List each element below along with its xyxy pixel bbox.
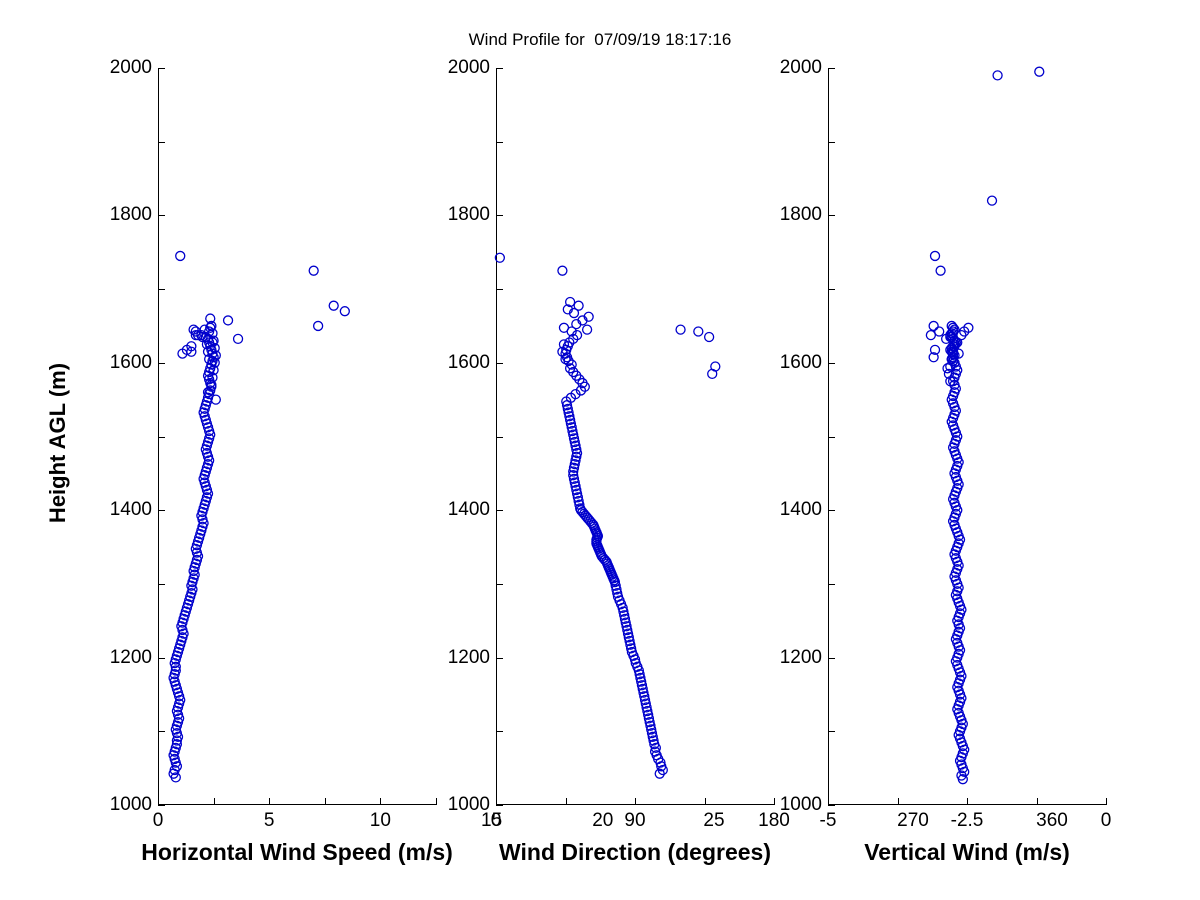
- x-axis-tick-label: -5: [820, 810, 837, 832]
- data-markers-wind-direction: [496, 68, 774, 805]
- x-axis-tick-label: 25: [703, 810, 724, 832]
- x-axis-tick-label: 5: [264, 810, 275, 832]
- data-point: [926, 331, 935, 340]
- subplot-vertical-wind: 0200400600800100012001400160018002000-5-…: [828, 68, 1106, 805]
- data-point: [224, 316, 233, 325]
- y-axis-tick-label: 1800: [780, 204, 822, 226]
- scatter-series: [828, 68, 1106, 805]
- data-point: [705, 333, 714, 342]
- data-point: [558, 266, 567, 275]
- y-axis-tick-label: 1800: [448, 204, 490, 226]
- data-point: [694, 327, 703, 336]
- page-title: Wind Profile for 07/09/19 18:17:16: [0, 30, 1200, 50]
- data-point: [309, 266, 318, 275]
- y-axis-tick-label: 1600: [110, 352, 152, 374]
- y-axis-tick-label: 2000: [448, 57, 490, 79]
- data-markers-horizontal-wind: [158, 68, 436, 805]
- data-point: [574, 301, 583, 310]
- y-axis-tick-label: 1600: [780, 352, 822, 374]
- y-axis-tick-label: 1200: [448, 647, 490, 669]
- x-axis-label: Horizontal Wind Speed (m/s): [141, 839, 453, 866]
- data-point: [495, 253, 504, 262]
- y-axis-tick-label: 1200: [110, 647, 152, 669]
- y-axis-tick-label: 1600: [448, 352, 490, 374]
- y-axis-tick-label: 1000: [448, 794, 490, 816]
- y-axis-tick-label: 1400: [780, 499, 822, 521]
- y-axis-label: Height AGL (m): [45, 283, 71, 603]
- subplot-wind-direction: 0200400600800100012001400160018002000090…: [496, 68, 774, 805]
- x-axis-tick-label: 270: [897, 810, 929, 832]
- scatter-series: [496, 68, 774, 805]
- data-point: [559, 323, 568, 332]
- data-point: [676, 325, 685, 334]
- scatter-series: [158, 68, 436, 805]
- y-axis-tick-label: 2000: [780, 57, 822, 79]
- data-point: [929, 321, 938, 330]
- x-axis-tick-label: 360: [1036, 810, 1068, 832]
- x-axis-tick: 360: [774, 798, 775, 805]
- data-markers-vertical-wind: [828, 68, 1106, 805]
- data-point: [340, 307, 349, 316]
- y-axis-tick: 0: [158, 805, 165, 806]
- x-axis-tick-label: 90: [624, 810, 645, 832]
- x-axis-tick-label: 10: [370, 810, 391, 832]
- data-point: [1035, 67, 1044, 76]
- data-point: [708, 369, 717, 378]
- y-axis-tick-label: 1200: [780, 647, 822, 669]
- data-point: [314, 321, 323, 330]
- y-axis-tick-label: 2000: [110, 57, 152, 79]
- x-axis-label: Vertical Wind (m/s): [864, 839, 1070, 866]
- data-point: [936, 266, 945, 275]
- x-axis-tick-label: 0: [153, 810, 164, 832]
- data-point: [176, 251, 185, 260]
- x-axis-tick: 25: [436, 798, 437, 805]
- data-point: [988, 196, 997, 205]
- x-axis-tick: 5: [1106, 798, 1107, 805]
- data-point: [329, 301, 338, 310]
- x-axis-tick-label: 20: [592, 810, 613, 832]
- x-axis-tick-label: -2.5: [951, 810, 984, 832]
- data-point: [234, 334, 243, 343]
- y-axis-tick: 0: [828, 805, 835, 806]
- wind-profile-figure: Wind Profile for 07/09/19 18:17:16 Heigh…: [0, 0, 1200, 900]
- y-axis-tick-label: 1800: [110, 204, 152, 226]
- data-point: [583, 325, 592, 334]
- data-point: [935, 327, 944, 336]
- data-point: [993, 71, 1002, 80]
- x-axis-tick-label: 0: [1101, 810, 1112, 832]
- y-axis-tick-label: 1000: [110, 794, 152, 816]
- subplot-horizontal-wind-speed: 0200400600800100012001400160018002000051…: [158, 68, 436, 805]
- y-axis-tick-label: 1000: [780, 794, 822, 816]
- y-axis-tick-label: 1400: [448, 499, 490, 521]
- x-axis-label: Wind Direction (degrees): [499, 839, 771, 866]
- x-axis-tick-label: 0: [491, 810, 502, 832]
- y-axis-tick: 0: [496, 805, 503, 806]
- y-axis-tick-label: 1400: [110, 499, 152, 521]
- data-point: [931, 251, 940, 260]
